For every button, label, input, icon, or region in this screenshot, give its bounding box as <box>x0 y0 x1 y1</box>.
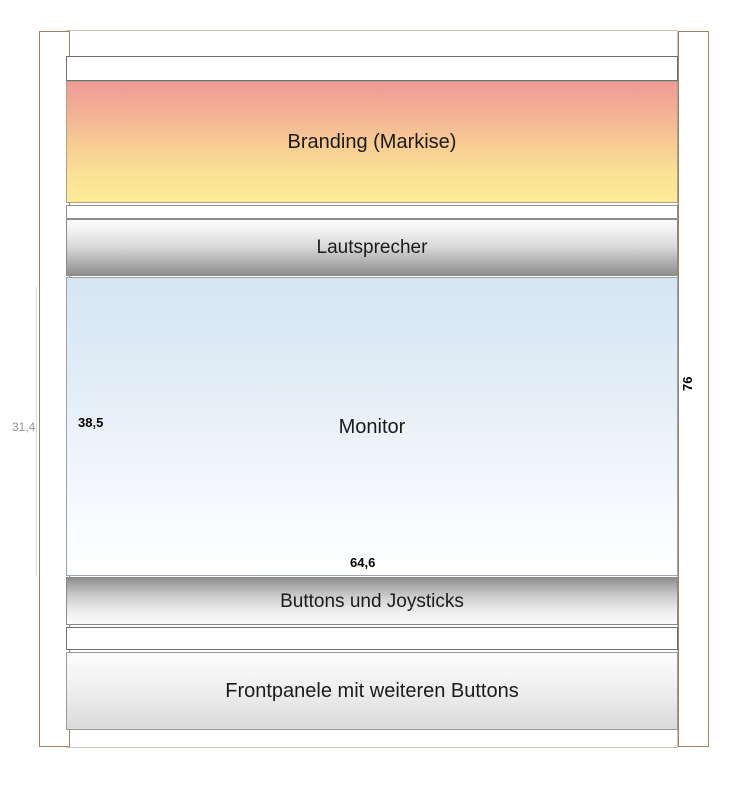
dimension-depth: 31,4 <box>12 421 35 433</box>
panel-speaker-label: Lautsprecher <box>317 238 428 257</box>
panel-branding-label: Branding (Markise) <box>288 132 457 152</box>
dimension-monitor-width: 64,6 <box>350 556 375 569</box>
panel-branding[interactable]: Branding (Markise) <box>66 81 678 203</box>
panel-top-trim[interactable] <box>66 56 678 81</box>
cabinet-diagram: Branding (Markise) Lautsprecher Monitor … <box>0 0 742 785</box>
depth-guide-line <box>36 287 37 576</box>
dimension-monitor-height: 38,5 <box>78 416 103 429</box>
panel-monitor-label: Monitor <box>339 417 406 437</box>
panel-gap-upper[interactable] <box>66 205 678 219</box>
panel-controls-label: Buttons und Joysticks <box>280 592 464 611</box>
panel-gap-lower[interactable] <box>66 627 678 650</box>
panel-frontpanel-label: Frontpanele mit weiteren Buttons <box>225 681 519 701</box>
panel-frontpanel[interactable]: Frontpanele mit weiteren Buttons <box>66 652 678 730</box>
panel-controls[interactable]: Buttons und Joysticks <box>66 577 678 625</box>
panel-speaker[interactable]: Lautsprecher <box>66 219 678 276</box>
panel-monitor[interactable]: Monitor <box>66 277 678 576</box>
dimension-cabinet-height: 76 <box>681 377 694 391</box>
